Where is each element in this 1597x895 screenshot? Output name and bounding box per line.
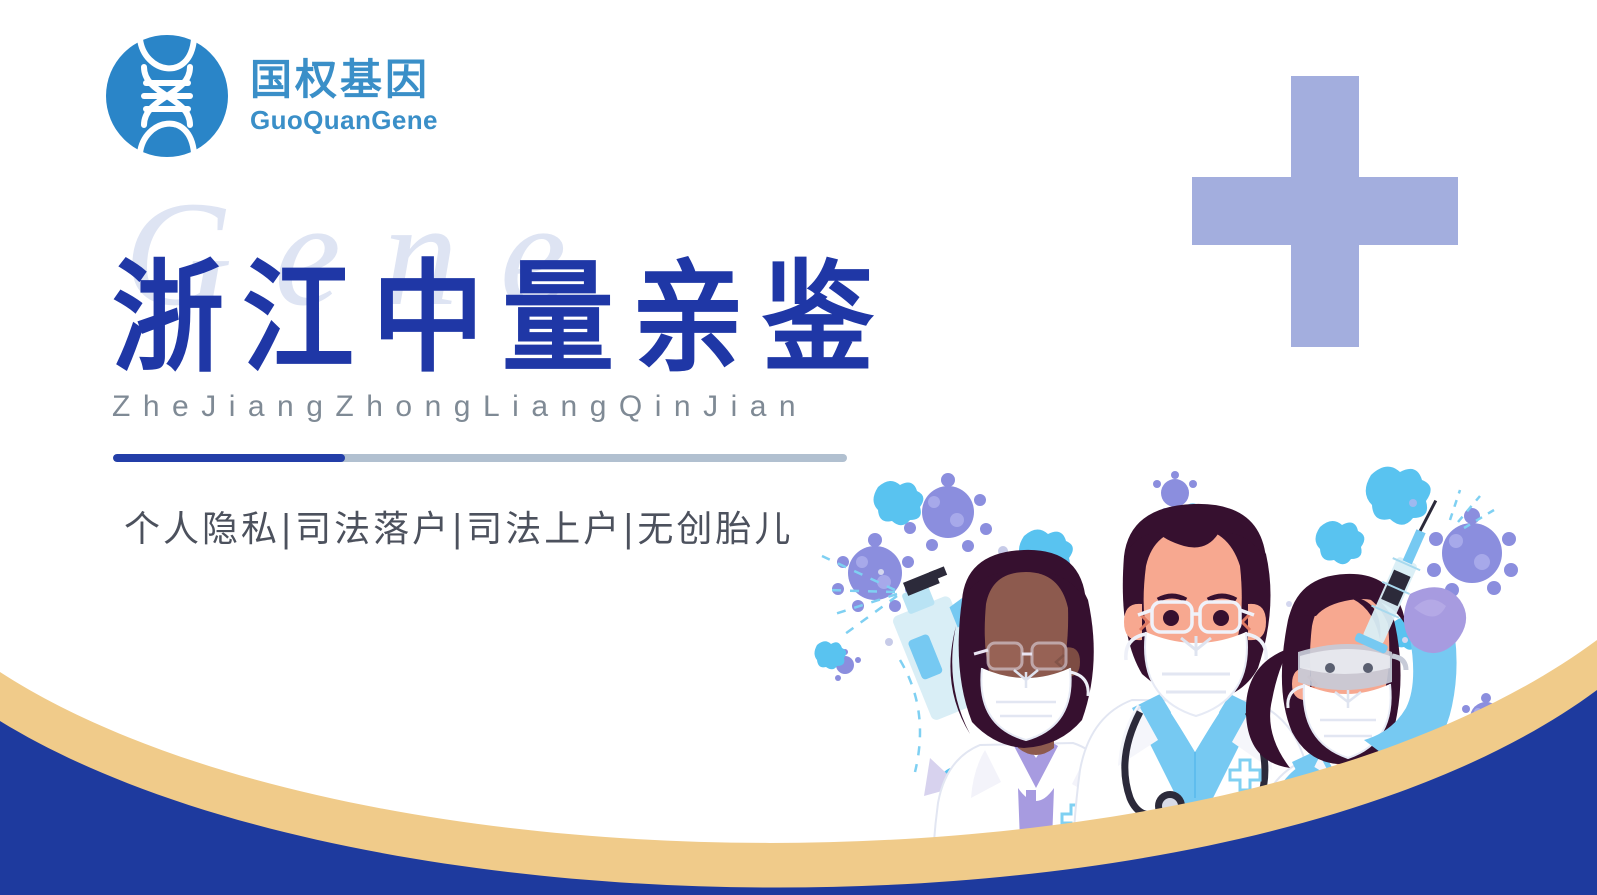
star-particle xyxy=(941,767,977,798)
cross-vertical-bar xyxy=(1291,76,1359,347)
star-particle xyxy=(1019,529,1073,577)
pocket-cross-icon xyxy=(1230,760,1260,790)
brand-text: 国权基因 GuoQuanGene xyxy=(250,56,438,136)
star-particle xyxy=(1391,618,1427,650)
virus-particle xyxy=(1462,693,1511,742)
star-particle xyxy=(1366,467,1431,525)
pocket-cross-icon xyxy=(1350,782,1380,812)
star-particle xyxy=(1180,503,1216,534)
virus-particle xyxy=(904,473,992,552)
safety-goggles xyxy=(1298,644,1406,690)
virus-particle xyxy=(1427,508,1518,597)
pocket-cross-icon xyxy=(1062,805,1089,832)
medical-cross-icon xyxy=(1192,76,1458,347)
virus-particle xyxy=(1153,471,1197,516)
virus-particle xyxy=(829,649,861,681)
title-pinyin: ZheJiangZhongLiangQinJian xyxy=(112,390,1012,424)
star-particle xyxy=(815,641,847,669)
star-particle xyxy=(874,481,924,525)
glasses xyxy=(1138,602,1254,632)
stethoscope xyxy=(1125,712,1265,816)
promotional-banner: 国权基因 GuoQuanGene Gene 浙江中量亲鉴 ZheJiangZho… xyxy=(0,0,1597,895)
spray-bottle xyxy=(881,561,1009,722)
star-particle xyxy=(1316,521,1365,564)
paper-shape xyxy=(924,758,960,796)
brand-name-en: GuoQuanGene xyxy=(250,106,438,136)
syringe xyxy=(1354,493,1451,654)
headline-group: Gene 浙江中量亲鉴 ZheJiangZhongLiangQinJian xyxy=(112,185,1012,424)
doctor-right xyxy=(1246,490,1494,895)
brand-name-cn: 国权基因 xyxy=(250,56,438,103)
divider-fill xyxy=(113,454,345,462)
glasses xyxy=(974,643,1066,669)
dna-helix-circle-icon xyxy=(104,33,230,159)
divider-bar xyxy=(113,454,847,462)
doctor-left xyxy=(932,550,1122,895)
doctor-center xyxy=(1072,504,1318,895)
dot-particle xyxy=(878,499,1417,688)
blue-wave xyxy=(0,690,1597,895)
page-title: 浙江中量亲鉴 xyxy=(112,185,1012,387)
services-list: 个人隐私|司法落户|司法上户|无创胎儿 xyxy=(124,500,793,552)
gold-wave xyxy=(0,640,1597,895)
injection-spray-lines xyxy=(1450,490,1494,528)
floating-particles xyxy=(815,467,1519,799)
brand-logo[interactable]: 国权基因 GuoQuanGene xyxy=(104,33,438,159)
spray-lines xyxy=(822,556,920,772)
virus-particle xyxy=(832,533,917,612)
